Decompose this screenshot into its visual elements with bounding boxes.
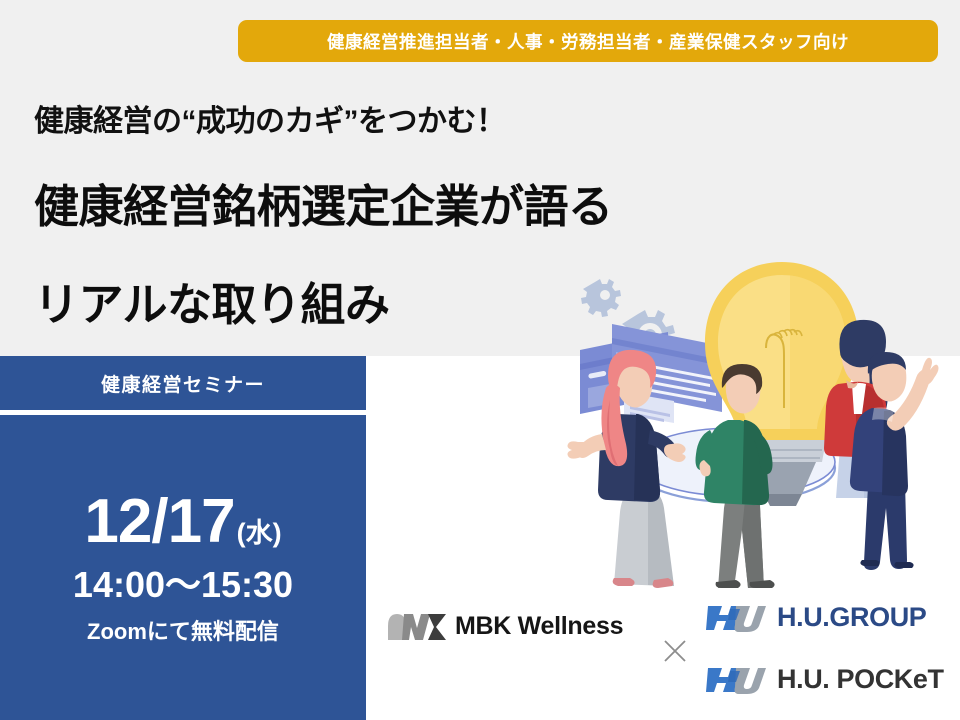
seminar-date-row: 12/17 (水) [84, 491, 281, 553]
hu-monogram-icon [706, 600, 766, 634]
seminar-time: 14:00〜15:30 [73, 565, 293, 605]
mbk-wellness-wordmark: MBK Wellness [455, 612, 623, 641]
seminar-banner-canvas: 健康経営推進担当者・人事・労務担当者・産業保健スタッフ向け 健康経営の“成功のカ… [0, 0, 960, 720]
hu-pocket-logo: H.U. POCKeT [706, 662, 944, 696]
logo-separator-x-icon [662, 638, 688, 664]
seminar-label-band: 健康経営セミナー [0, 356, 366, 410]
logo-row: MBK Wellness H.U.GROUP H.U. POCKeT [366, 580, 960, 720]
seminar-label: 健康経営セミナー [101, 370, 265, 397]
seminar-info-panel: 健康経営セミナー 12/17 (水) 14:00〜15:30 Zoomにて無料配… [0, 356, 366, 720]
mbk-wellness-logo: MBK Wellness [388, 612, 623, 641]
seminar-day-of-week: (水) [237, 520, 282, 553]
hu-monogram-icon [706, 662, 766, 696]
headline-line-2: リアルな取り組み [34, 268, 390, 333]
headline-kicker: 健康経営の“成功のカギ”をつかむ！ [34, 96, 506, 140]
mbk-angular-mark-icon [388, 614, 446, 640]
audience-banner-text: 健康経営推進担当者・人事・労務担当者・産業保健スタッフ向け [327, 29, 849, 54]
seminar-delivery-method: Zoomにて無料配信 [87, 620, 279, 644]
seminar-details: 12/17 (水) 14:00〜15:30 Zoomにて無料配信 [0, 415, 366, 720]
seminar-date: 12/17 [84, 491, 234, 553]
hu-group-logo: H.U.GROUP [706, 600, 926, 634]
hu-pocket-wordmark: H.U. POCKeT [777, 664, 944, 695]
audience-banner: 健康経営推進担当者・人事・労務担当者・産業保健スタッフ向け [238, 20, 938, 62]
hu-group-wordmark: H.U.GROUP [777, 602, 926, 633]
headline-line-1: 健康経営銘柄選定企業が語る [34, 170, 613, 235]
lightbulb-teamwork-illustration [550, 248, 960, 588]
